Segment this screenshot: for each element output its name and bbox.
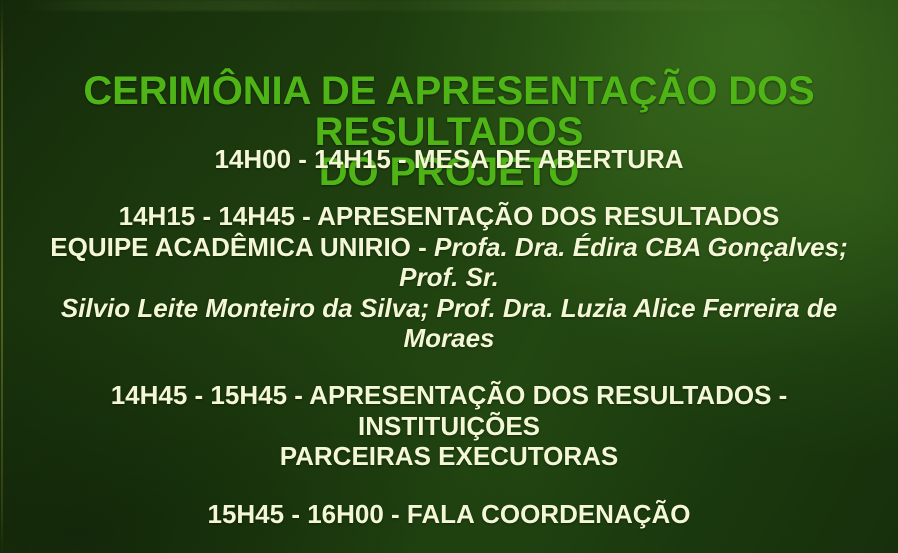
poster-content: CERIMÔNIA DE APRESENTAÇÃO DOS RESULTADOS… <box>0 0 898 553</box>
schedule-item-apresentacao-resultados-instituicoes: 14H45 - 15H45 - APRESENTAÇÃO DOS RESULTA… <box>22 380 876 471</box>
schedule-line: 14H45 - 15H45 - APRESENTAÇÃO DOS RESULTA… <box>22 380 876 441</box>
schedule-line: 14H15 - 14H45 - APRESENTAÇÃO DOS RESULTA… <box>22 201 876 231</box>
schedule-item-fala-coordenacao: 15H45 - 16H00 - FALA COORDENAÇÃO <box>22 499 876 529</box>
schedule-line-team-label: EQUIPE ACADÊMICA UNIRIO - <box>50 232 434 262</box>
schedule-list: 14H00 - 14H15 - MESA DE ABERTURA 14H15 -… <box>0 144 898 553</box>
schedule-line-team: EQUIPE ACADÊMICA UNIRIO - Profa. Dra. Éd… <box>22 232 876 293</box>
schedule-line: PARCEIRAS EXECUTORAS <box>22 441 876 471</box>
schedule-line-team-names-2: Silvio Leite Monteiro da Silva; Prof. Dr… <box>22 293 876 354</box>
schedule-item-mesa-de-abertura: 14H00 - 14H15 - MESA DE ABERTURA <box>22 144 876 174</box>
schedule-line: 14H00 - 14H15 - MESA DE ABERTURA <box>22 144 876 174</box>
schedule-item-apresentacao-resultados-unirio: 14H15 - 14H45 - APRESENTAÇÃO DOS RESULTA… <box>22 201 876 353</box>
schedule-line-team-names-1: Profa. Dra. Édira CBA Gonçalves; Prof. S… <box>399 232 848 292</box>
schedule-line: 15H45 - 16H00 - FALA COORDENAÇÃO <box>22 499 876 529</box>
event-schedule-poster: CERIMÔNIA DE APRESENTAÇÃO DOS RESULTADOS… <box>0 0 898 553</box>
page-title-line-1: CERIMÔNIA DE APRESENTAÇÃO DOS RESULTADOS <box>28 71 870 153</box>
